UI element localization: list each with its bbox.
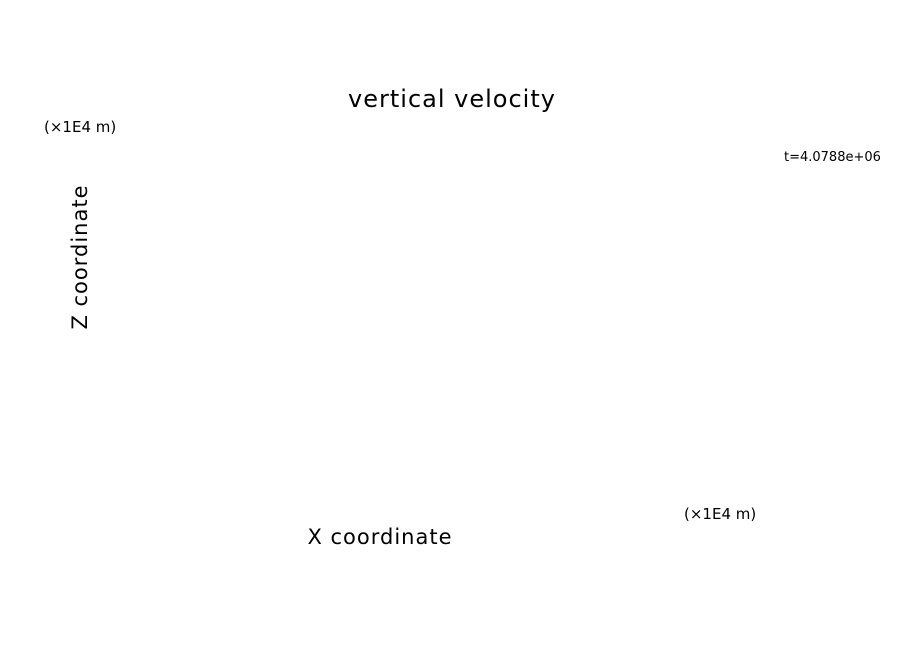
chart-figure: vertical velocity (×1E4 m) (×1E4 m) X co… bbox=[0, 0, 904, 654]
plot-canvas bbox=[0, 0, 904, 654]
